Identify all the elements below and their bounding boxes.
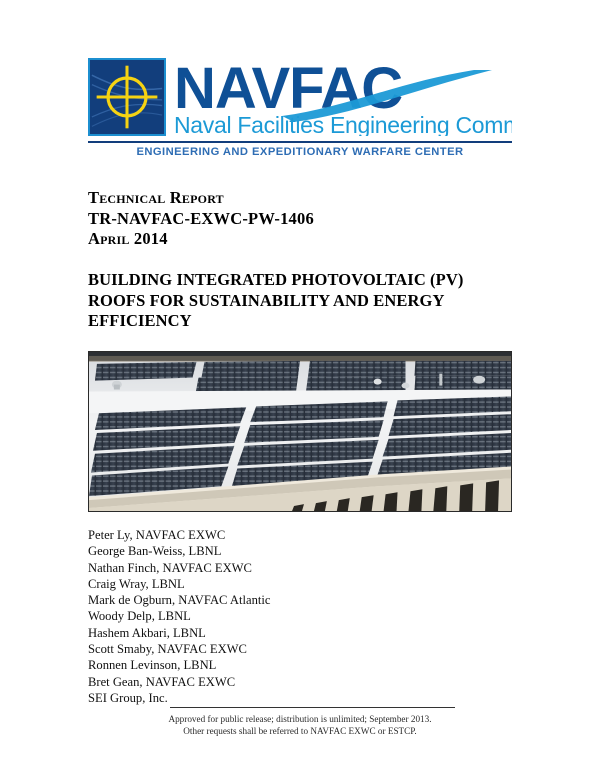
author-line: Scott Smaby, NAVFAC EXWC: [88, 641, 418, 657]
distribution-statement-line-1: Approved for public release; distributio…: [88, 714, 512, 726]
author-line: George Ban-Weiss, LBNL: [88, 543, 418, 559]
logo-divider-rule: [88, 141, 512, 143]
report-number: TR-NAVFAC-EXWC-PW-1406: [88, 209, 508, 230]
page-title-line-3: EFFICIENCY: [88, 311, 518, 332]
report-type-label: Technical Report: [88, 188, 508, 209]
author-line: Craig Wray, LBNL: [88, 576, 418, 592]
author-line: SEI Group, Inc.: [88, 690, 418, 706]
author-line: Bret Gean, NAVFAC EXWC: [88, 674, 418, 690]
author-line: Woody Delp, LBNL: [88, 608, 418, 624]
author-list: Peter Ly, NAVFAC EXWC George Ban-Weiss, …: [88, 527, 418, 706]
footer-divider-rule: [170, 707, 455, 708]
report-metadata: Technical Report TR-NAVFAC-EXWC-PW-1406 …: [88, 188, 508, 250]
navfac-compass-emblem: [88, 58, 166, 136]
report-date: April 2014: [88, 229, 508, 250]
author-line: Mark de Ogburn, NAVFAC Atlantic: [88, 592, 418, 608]
page-title: BUILDING INTEGRATED PHOTOVOLTAIC (PV) RO…: [88, 270, 518, 332]
author-line: Peter Ly, NAVFAC EXWC: [88, 527, 418, 543]
distribution-statement: Approved for public release; distributio…: [88, 714, 512, 737]
distribution-statement-line-2: Other requests shall be referred to NAVF…: [88, 726, 512, 738]
navfac-logo: NAVFAC NAVFAC Naval Facilities Engineeri…: [88, 58, 512, 166]
author-line: Nathan Finch, NAVFAC EXWC: [88, 560, 418, 576]
author-line: Hashem Akbari, LBNL: [88, 625, 418, 641]
author-line: Ronnen Levinson, LBNL: [88, 657, 418, 673]
svg-text:Naval Facilities Engineering C: Naval Facilities Engineering Command: [174, 112, 512, 136]
navfac-wordmark: NAVFAC NAVFAC Naval Facilities Engineeri…: [174, 56, 512, 136]
page-title-line-2: ROOFS FOR SUSTAINABILITY AND ENERGY: [88, 291, 518, 312]
page-title-line-1: BUILDING INTEGRATED PHOTOVOLTAIC (PV): [88, 270, 518, 291]
rooftop-photovoltaic-array-photo: [88, 351, 512, 512]
logo-subtitle: ENGINEERING AND EXPEDITIONARY WARFARE CE…: [88, 146, 512, 158]
